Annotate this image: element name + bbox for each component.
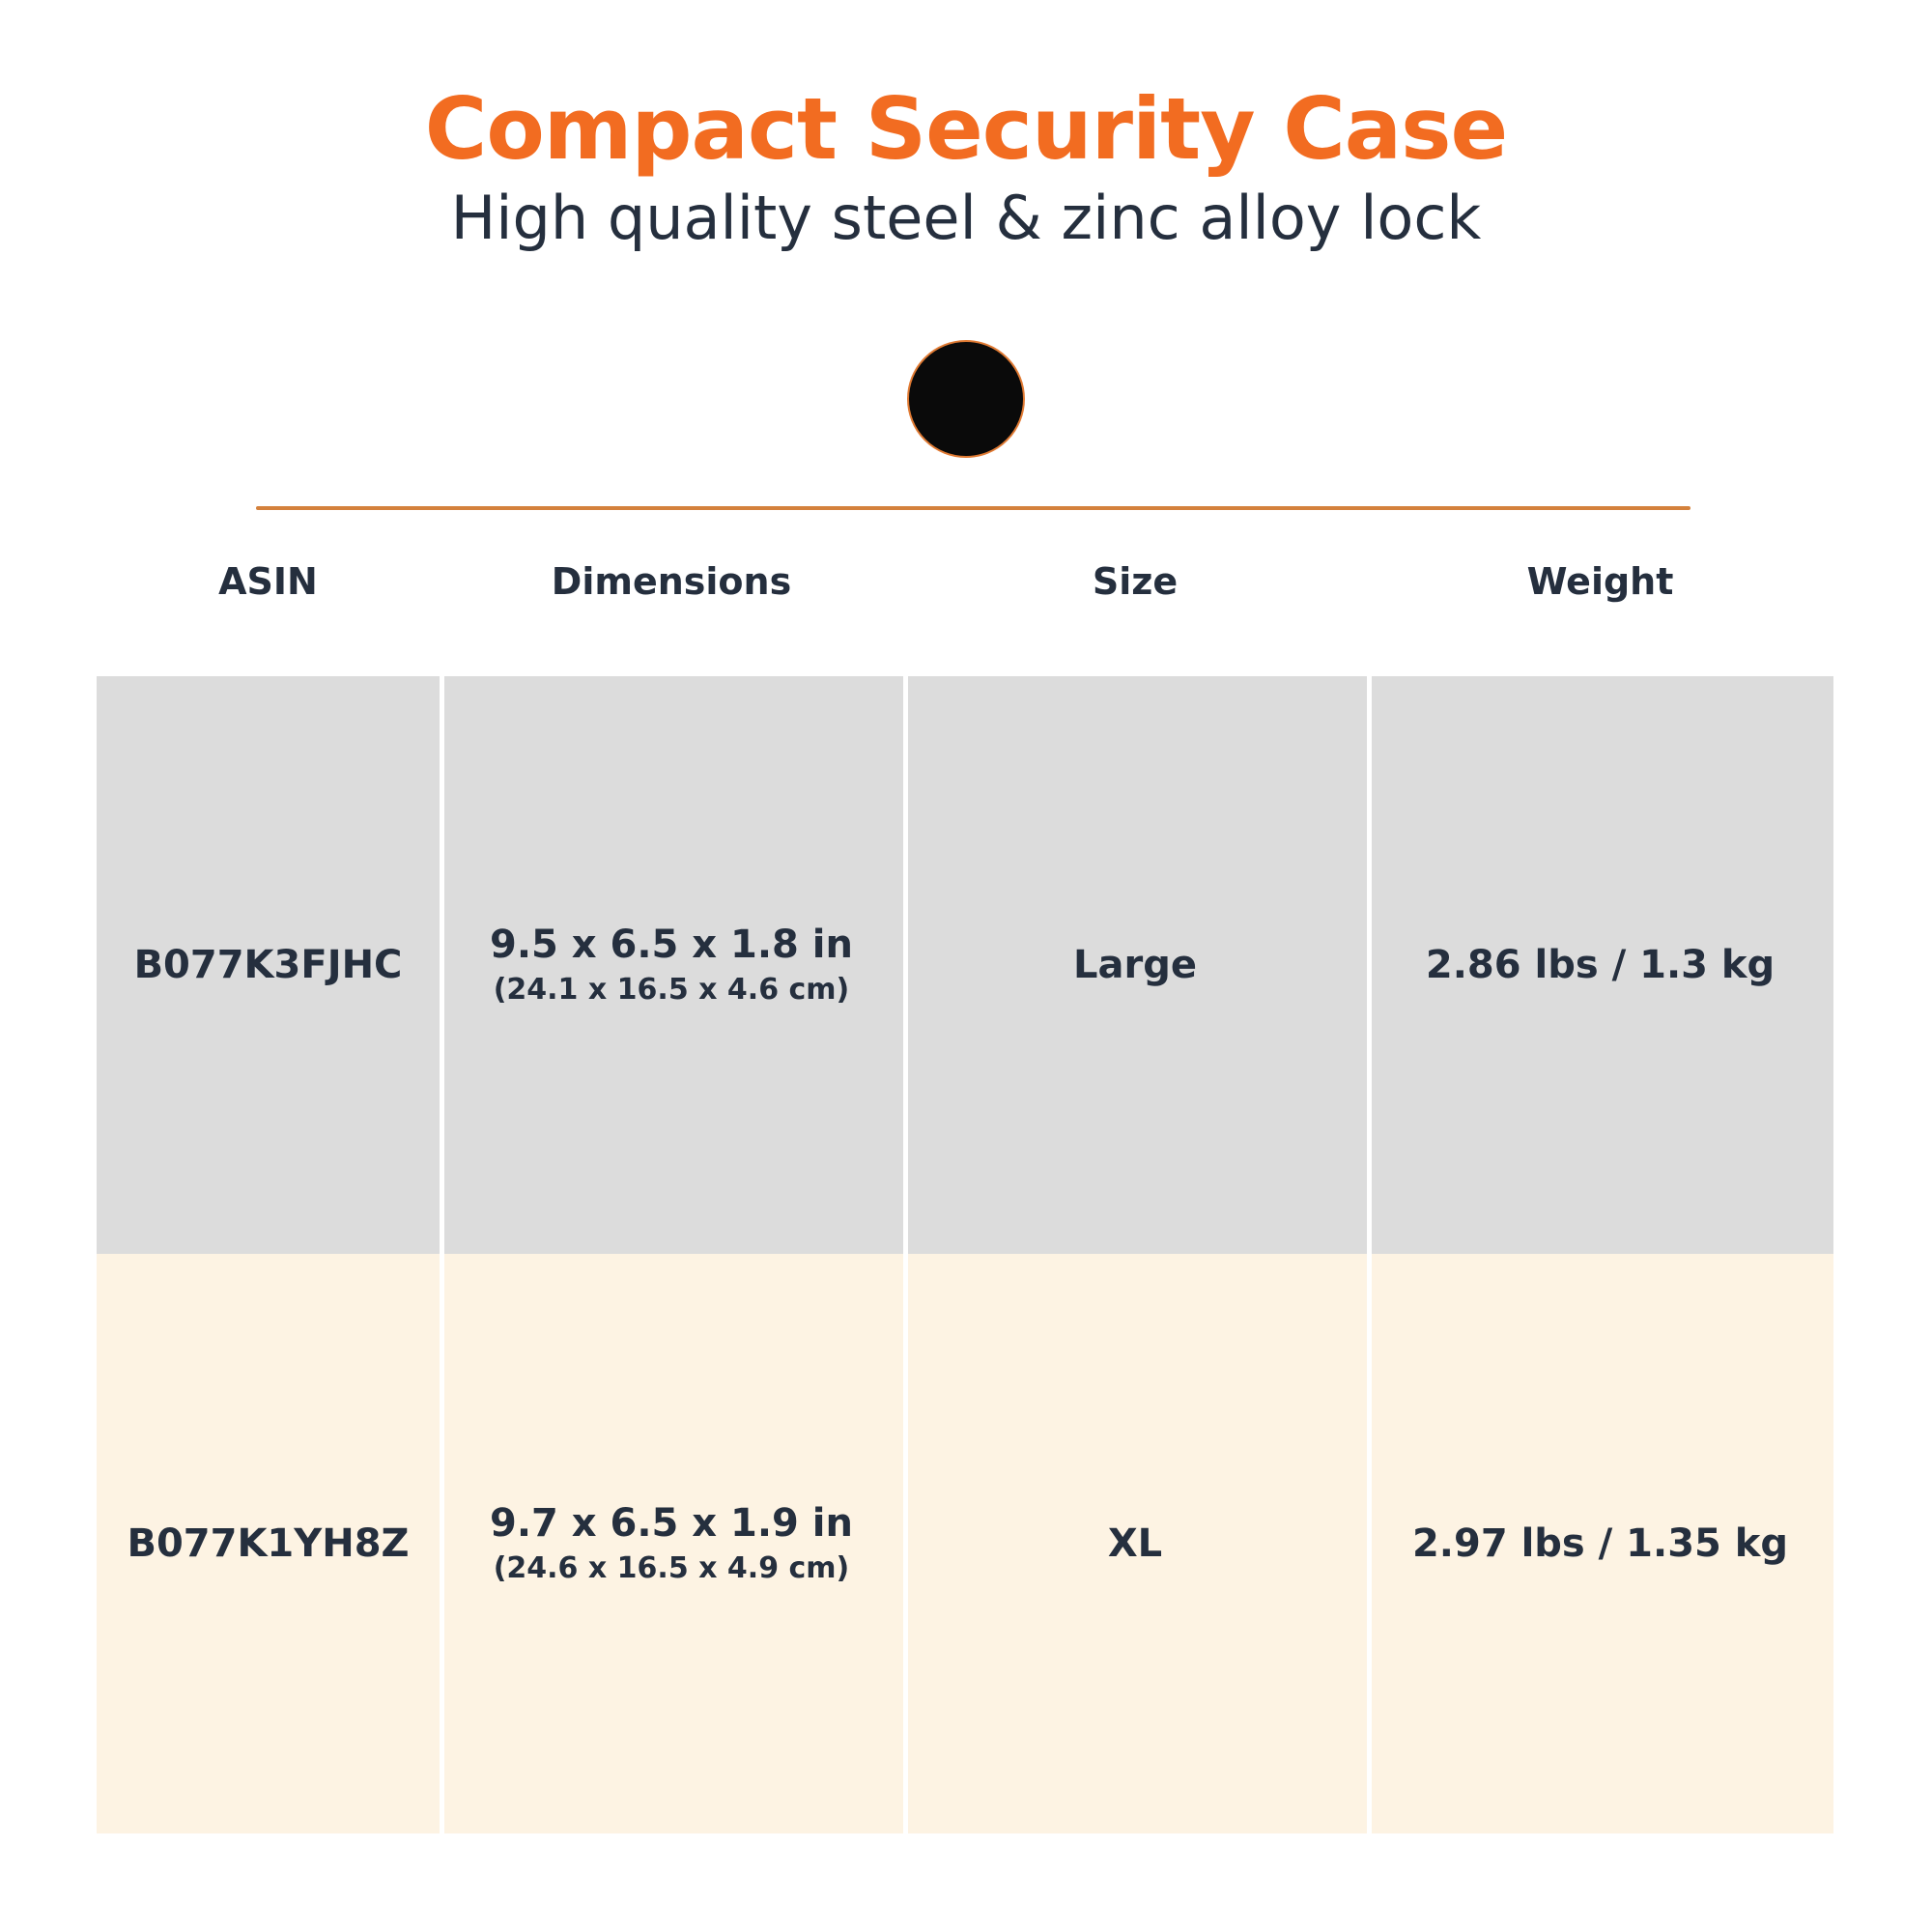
column-header-weight: Weight: [1367, 558, 1833, 603]
dimensions-inches: 9.5 x 6.5 x 1.8 in: [490, 922, 853, 969]
dimensions-inches: 9.7 x 6.5 x 1.9 in: [490, 1500, 853, 1548]
table-row: B077K3FJHC 9.5 x 6.5 x 1.8 in (24.1 x 16…: [97, 676, 1833, 1254]
size-value: XL: [1108, 1520, 1162, 1568]
asin-value: B077K1YH8Z: [127, 1520, 409, 1568]
page-title: Compact Security Case: [0, 83, 1932, 175]
page-subtitle: High quality steel & zinc alloy lock: [0, 185, 1932, 251]
column-header-dimensions: Dimensions: [440, 558, 903, 603]
hero-image-area: [0, 340, 1932, 462]
spec-table: B077K3FJHC 9.5 x 6.5 x 1.8 in (24.1 x 16…: [97, 676, 1833, 1833]
cell-weight: 2.97 lbs / 1.35 kg: [1367, 1254, 1833, 1833]
cell-size: Large: [903, 676, 1367, 1254]
weight-value: 2.86 lbs / 1.3 kg: [1426, 942, 1775, 989]
dimensions-centimeters: (24.6 x 16.5 x 4.9 cm): [494, 1549, 850, 1587]
cell-dimensions: 9.7 x 6.5 x 1.9 in (24.6 x 16.5 x 4.9 cm…: [440, 1254, 903, 1833]
table-row: B077K1YH8Z 9.7 x 6.5 x 1.9 in (24.6 x 16…: [97, 1254, 1833, 1833]
asin-value: B077K3FJHC: [134, 942, 403, 989]
cell-dimensions: 9.5 x 6.5 x 1.8 in (24.1 x 16.5 x 4.6 cm…: [440, 676, 903, 1254]
size-value: Large: [1073, 942, 1197, 989]
dimensions-centimeters: (24.1 x 16.5 x 4.6 cm): [494, 971, 850, 1009]
section-divider: [256, 506, 1690, 510]
cell-weight: 2.86 lbs / 1.3 kg: [1367, 676, 1833, 1254]
column-header-asin: ASIN: [97, 558, 440, 603]
header-block: Compact Security Case High quality steel…: [0, 0, 1932, 251]
product-spec-infographic: Compact Security Case High quality steel…: [0, 0, 1932, 1932]
column-header-size: Size: [903, 558, 1367, 603]
cell-size: XL: [903, 1254, 1367, 1833]
table-header-row: ASIN Dimensions Size Weight: [97, 558, 1833, 603]
cell-asin: B077K1YH8Z: [97, 1254, 440, 1833]
cell-asin: B077K3FJHC: [97, 676, 440, 1254]
product-circle-icon: [907, 340, 1025, 458]
weight-value: 2.97 lbs / 1.35 kg: [1412, 1520, 1788, 1568]
